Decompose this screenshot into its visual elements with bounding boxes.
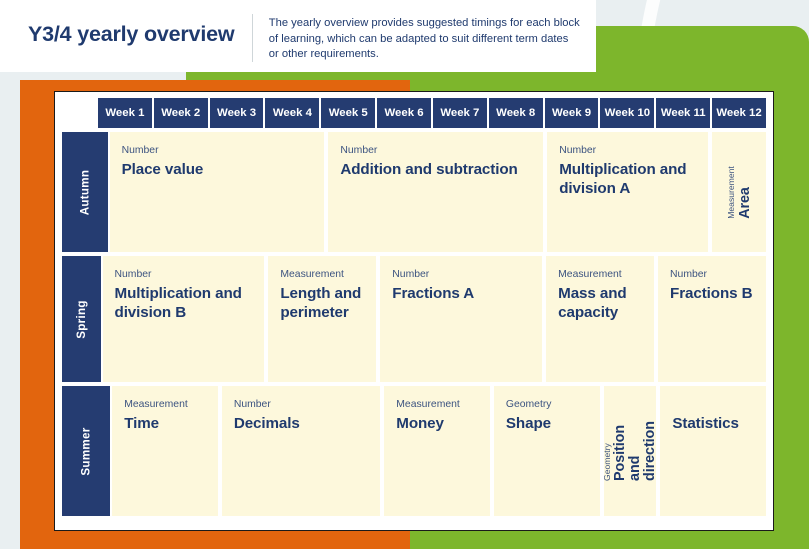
learning-block[interactable]: NumberDecimals <box>222 386 380 516</box>
week-header-row: Week 1Week 2Week 3Week 4Week 5Week 6Week… <box>62 98 766 128</box>
block-category: Measurement <box>280 268 366 281</box>
block-topic: Fractions B <box>670 284 756 303</box>
learning-block[interactable]: NumberAddition and subtraction <box>328 132 543 252</box>
term-label-summer: Summer <box>62 386 110 516</box>
week-header-cell: Week 8 <box>489 98 543 128</box>
week-header-cell: Week 3 <box>210 98 264 128</box>
yearly-overview-card: Week 1Week 2Week 3Week 4Week 5Week 6Week… <box>54 91 774 531</box>
week-header-cell: Week 6 <box>377 98 431 128</box>
learning-block[interactable]: GeometryPosition and direction <box>604 386 657 516</box>
week-header-cell: Week 5 <box>321 98 375 128</box>
learning-block[interactable]: NumberMultiplication and division A <box>547 132 708 252</box>
term-label-text: Summer <box>80 427 93 475</box>
learning-block[interactable]: NumberMultiplication and division B <box>103 256 265 382</box>
block-topic: Shape <box>506 414 590 433</box>
learning-block[interactable]: MeasurementMass and capacity <box>546 256 654 382</box>
block-topic: Place value <box>122 160 315 179</box>
learning-block[interactable]: MeasurementArea <box>712 132 766 252</box>
block-category: Number <box>340 144 533 157</box>
week-header-spacer <box>62 98 98 128</box>
block-category: Number <box>122 144 315 157</box>
term-row-spring: SpringNumberMultiplication and division … <box>62 256 766 382</box>
term-label-text: Spring <box>75 300 88 339</box>
block-category: Number <box>670 268 756 281</box>
week-header-cell: Week 2 <box>154 98 208 128</box>
page-title: Y3/4 yearly overview <box>28 22 234 47</box>
block-category: Number <box>392 268 532 281</box>
term-track: NumberMultiplication and division BMeasu… <box>103 256 766 382</box>
week-header-cell: Week 10 <box>600 98 654 128</box>
week-header-cell: Week 11 <box>656 98 710 128</box>
learning-block[interactable]: MeasurementTime <box>112 386 218 516</box>
header-banner: Y3/4 yearly overview The yearly overview… <box>0 0 596 72</box>
block-category: Geometry <box>604 443 612 481</box>
learning-block[interactable]: MeasurementLength and perimeter <box>268 256 376 382</box>
block-category: Measurement <box>726 166 736 219</box>
term-track: MeasurementTimeNumberDecimalsMeasurement… <box>112 386 766 516</box>
block-category: Number <box>234 398 370 411</box>
block-topic: Money <box>396 414 480 433</box>
term-label-spring: Spring <box>62 256 101 382</box>
yearly-overview-grid: Week 1Week 2Week 3Week 4Week 5Week 6Week… <box>62 98 766 523</box>
block-topic: Time <box>124 414 208 433</box>
block-category: Geometry <box>506 398 590 411</box>
block-category: Measurement <box>558 268 644 281</box>
term-row-autumn: AutumnNumberPlace valueNumberAddition an… <box>62 132 766 252</box>
learning-block[interactable]: NumberFractions B <box>658 256 766 382</box>
vertical-text-wrapper: MeasurementArea <box>726 166 753 219</box>
block-category: Measurement <box>396 398 480 411</box>
block-category: Number <box>559 144 698 157</box>
learning-block[interactable]: MeasurementMoney <box>384 386 490 516</box>
block-topic: Multiplication and division B <box>115 284 255 322</box>
block-category: Measurement <box>124 398 208 411</box>
week-header-cell: Week 1 <box>98 98 152 128</box>
block-topic: Fractions A <box>392 284 532 303</box>
block-topic: Position and direction <box>613 421 656 481</box>
term-rows: AutumnNumberPlace valueNumberAddition an… <box>62 132 766 516</box>
block-topic: Decimals <box>234 414 370 433</box>
learning-block[interactable]: GeometryShape <box>494 386 600 516</box>
term-label-text: Autumn <box>78 169 91 215</box>
block-topic: Area <box>737 187 753 219</box>
block-category: Number <box>115 268 255 281</box>
week-header-cell: Week 7 <box>433 98 487 128</box>
learning-block[interactable]: NumberFractions A <box>380 256 542 382</box>
block-topic: Multiplication and division A <box>559 160 698 198</box>
learning-block[interactable]: NumberPlace value <box>110 132 325 252</box>
week-header-cell: Week 12 <box>712 98 766 128</box>
header-description: The yearly overview provides suggested t… <box>269 16 580 63</box>
block-topic: Addition and subtraction <box>340 160 533 179</box>
week-header-cell: Week 9 <box>545 98 599 128</box>
vertical-text-wrapper: GeometryPosition and direction <box>604 421 657 481</box>
block-topic: Statistics <box>672 414 756 433</box>
block-topic: Mass and capacity <box>558 284 644 322</box>
term-row-summer: SummerMeasurementTimeNumberDecimalsMeasu… <box>62 386 766 516</box>
week-header-cell: Week 4 <box>265 98 319 128</box>
learning-block[interactable]: Statistics <box>660 386 766 516</box>
block-topic: Length and perimeter <box>280 284 366 322</box>
term-track: NumberPlace valueNumberAddition and subt… <box>110 132 766 252</box>
term-label-autumn: Autumn <box>62 132 108 252</box>
week-header-cells: Week 1Week 2Week 3Week 4Week 5Week 6Week… <box>98 98 766 128</box>
